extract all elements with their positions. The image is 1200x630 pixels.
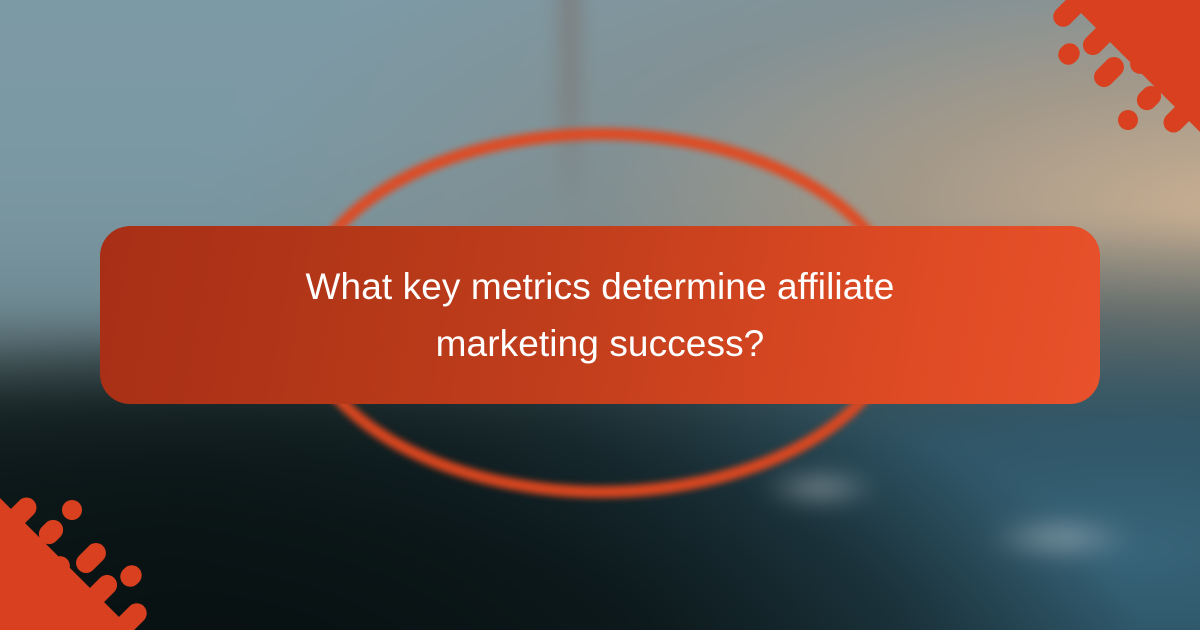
question-title-line-1: What key metrics determine affiliate (306, 266, 895, 307)
background-boat-highlight-secondary (985, 518, 1135, 558)
background-boat-highlight (760, 470, 880, 506)
question-banner: What key metrics determine affiliatemark… (100, 226, 1100, 404)
question-title-line-2: marketing success? (436, 323, 765, 364)
share-card-canvas: What key metrics determine affiliatemark… (0, 0, 1200, 630)
question-title: What key metrics determine affiliatemark… (306, 258, 895, 373)
